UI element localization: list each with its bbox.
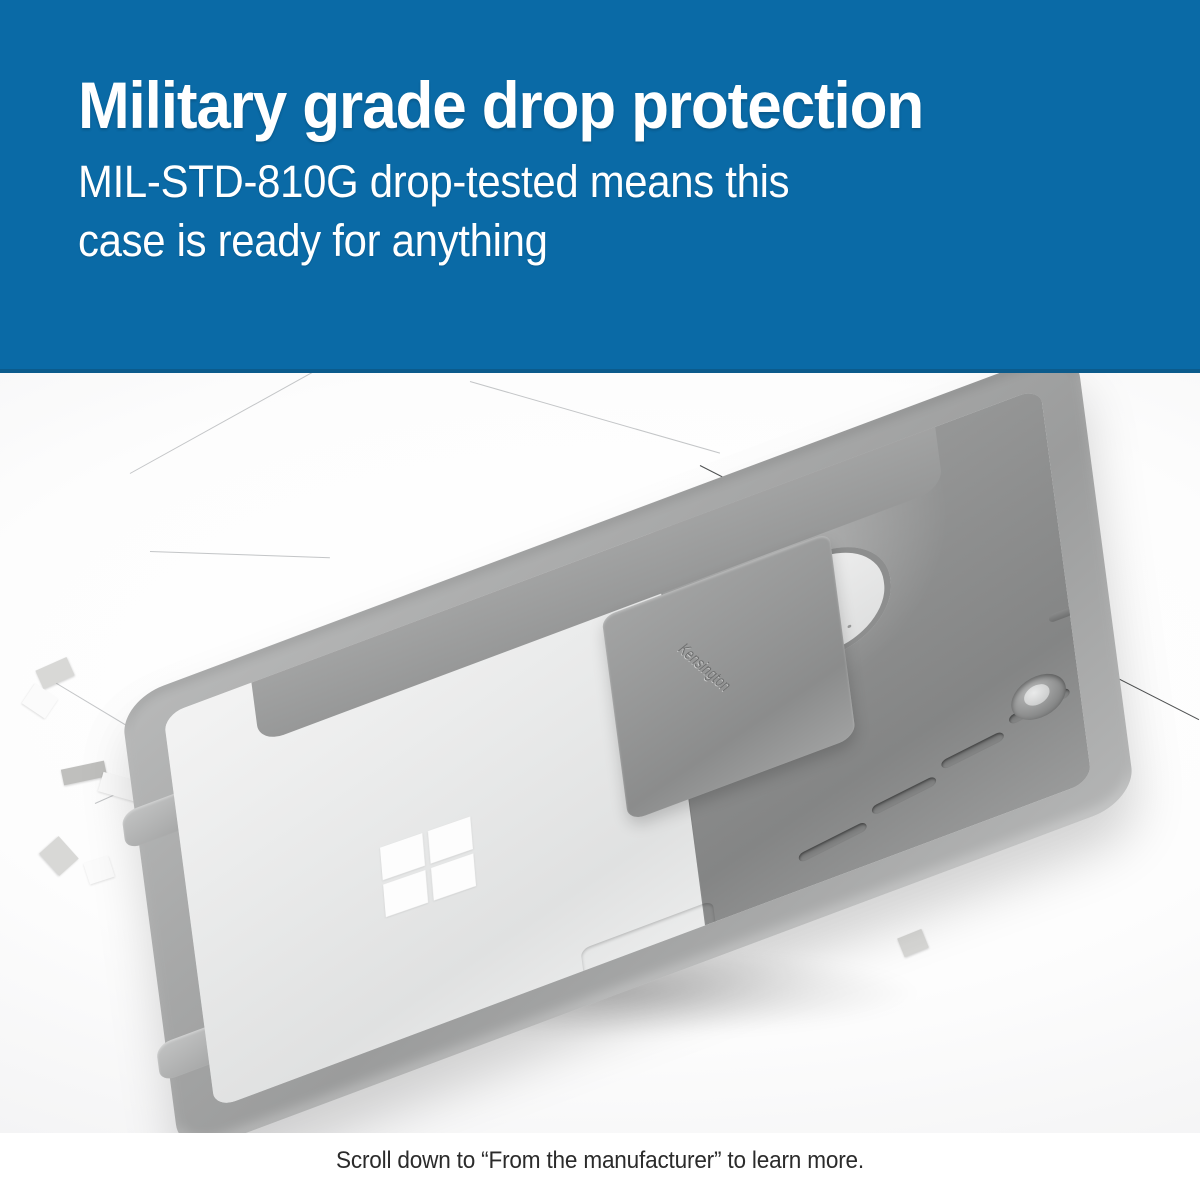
subtitle-line-2: case is ready for anything bbox=[78, 211, 1066, 270]
footer-caption: Scroll down to “From the manufacturer” t… bbox=[36, 1147, 1164, 1175]
page-title: Military grade drop protection bbox=[78, 72, 1076, 138]
case-interior: Kensington bbox=[163, 388, 1091, 1109]
vent-slot bbox=[940, 730, 1005, 770]
footer-caption-area: Scroll down to “From the manufacturer” t… bbox=[0, 1133, 1200, 1200]
product-feature-image: Military grade drop protection MIL-STD-8… bbox=[0, 0, 1200, 1200]
brand-logo-text: Kensington bbox=[673, 641, 736, 696]
page-subtitle: MIL-STD-810G drop-tested means this case… bbox=[78, 152, 1066, 271]
tablet-case-product: Kensington bbox=[0, 373, 1200, 1133]
subtitle-line-1: MIL-STD-810G drop-tested means this bbox=[78, 152, 1066, 211]
camera-sensor-dot bbox=[847, 625, 851, 629]
headline-banner: Military grade drop protection MIL-STD-8… bbox=[0, 0, 1200, 373]
banner-text-block: Military grade drop protection MIL-STD-8… bbox=[78, 72, 1140, 271]
hero-product-photo: Kensington bbox=[0, 373, 1200, 1133]
case-body: Kensington bbox=[120, 373, 1135, 1133]
vent-slot bbox=[871, 775, 938, 815]
port-inner bbox=[1023, 681, 1050, 709]
